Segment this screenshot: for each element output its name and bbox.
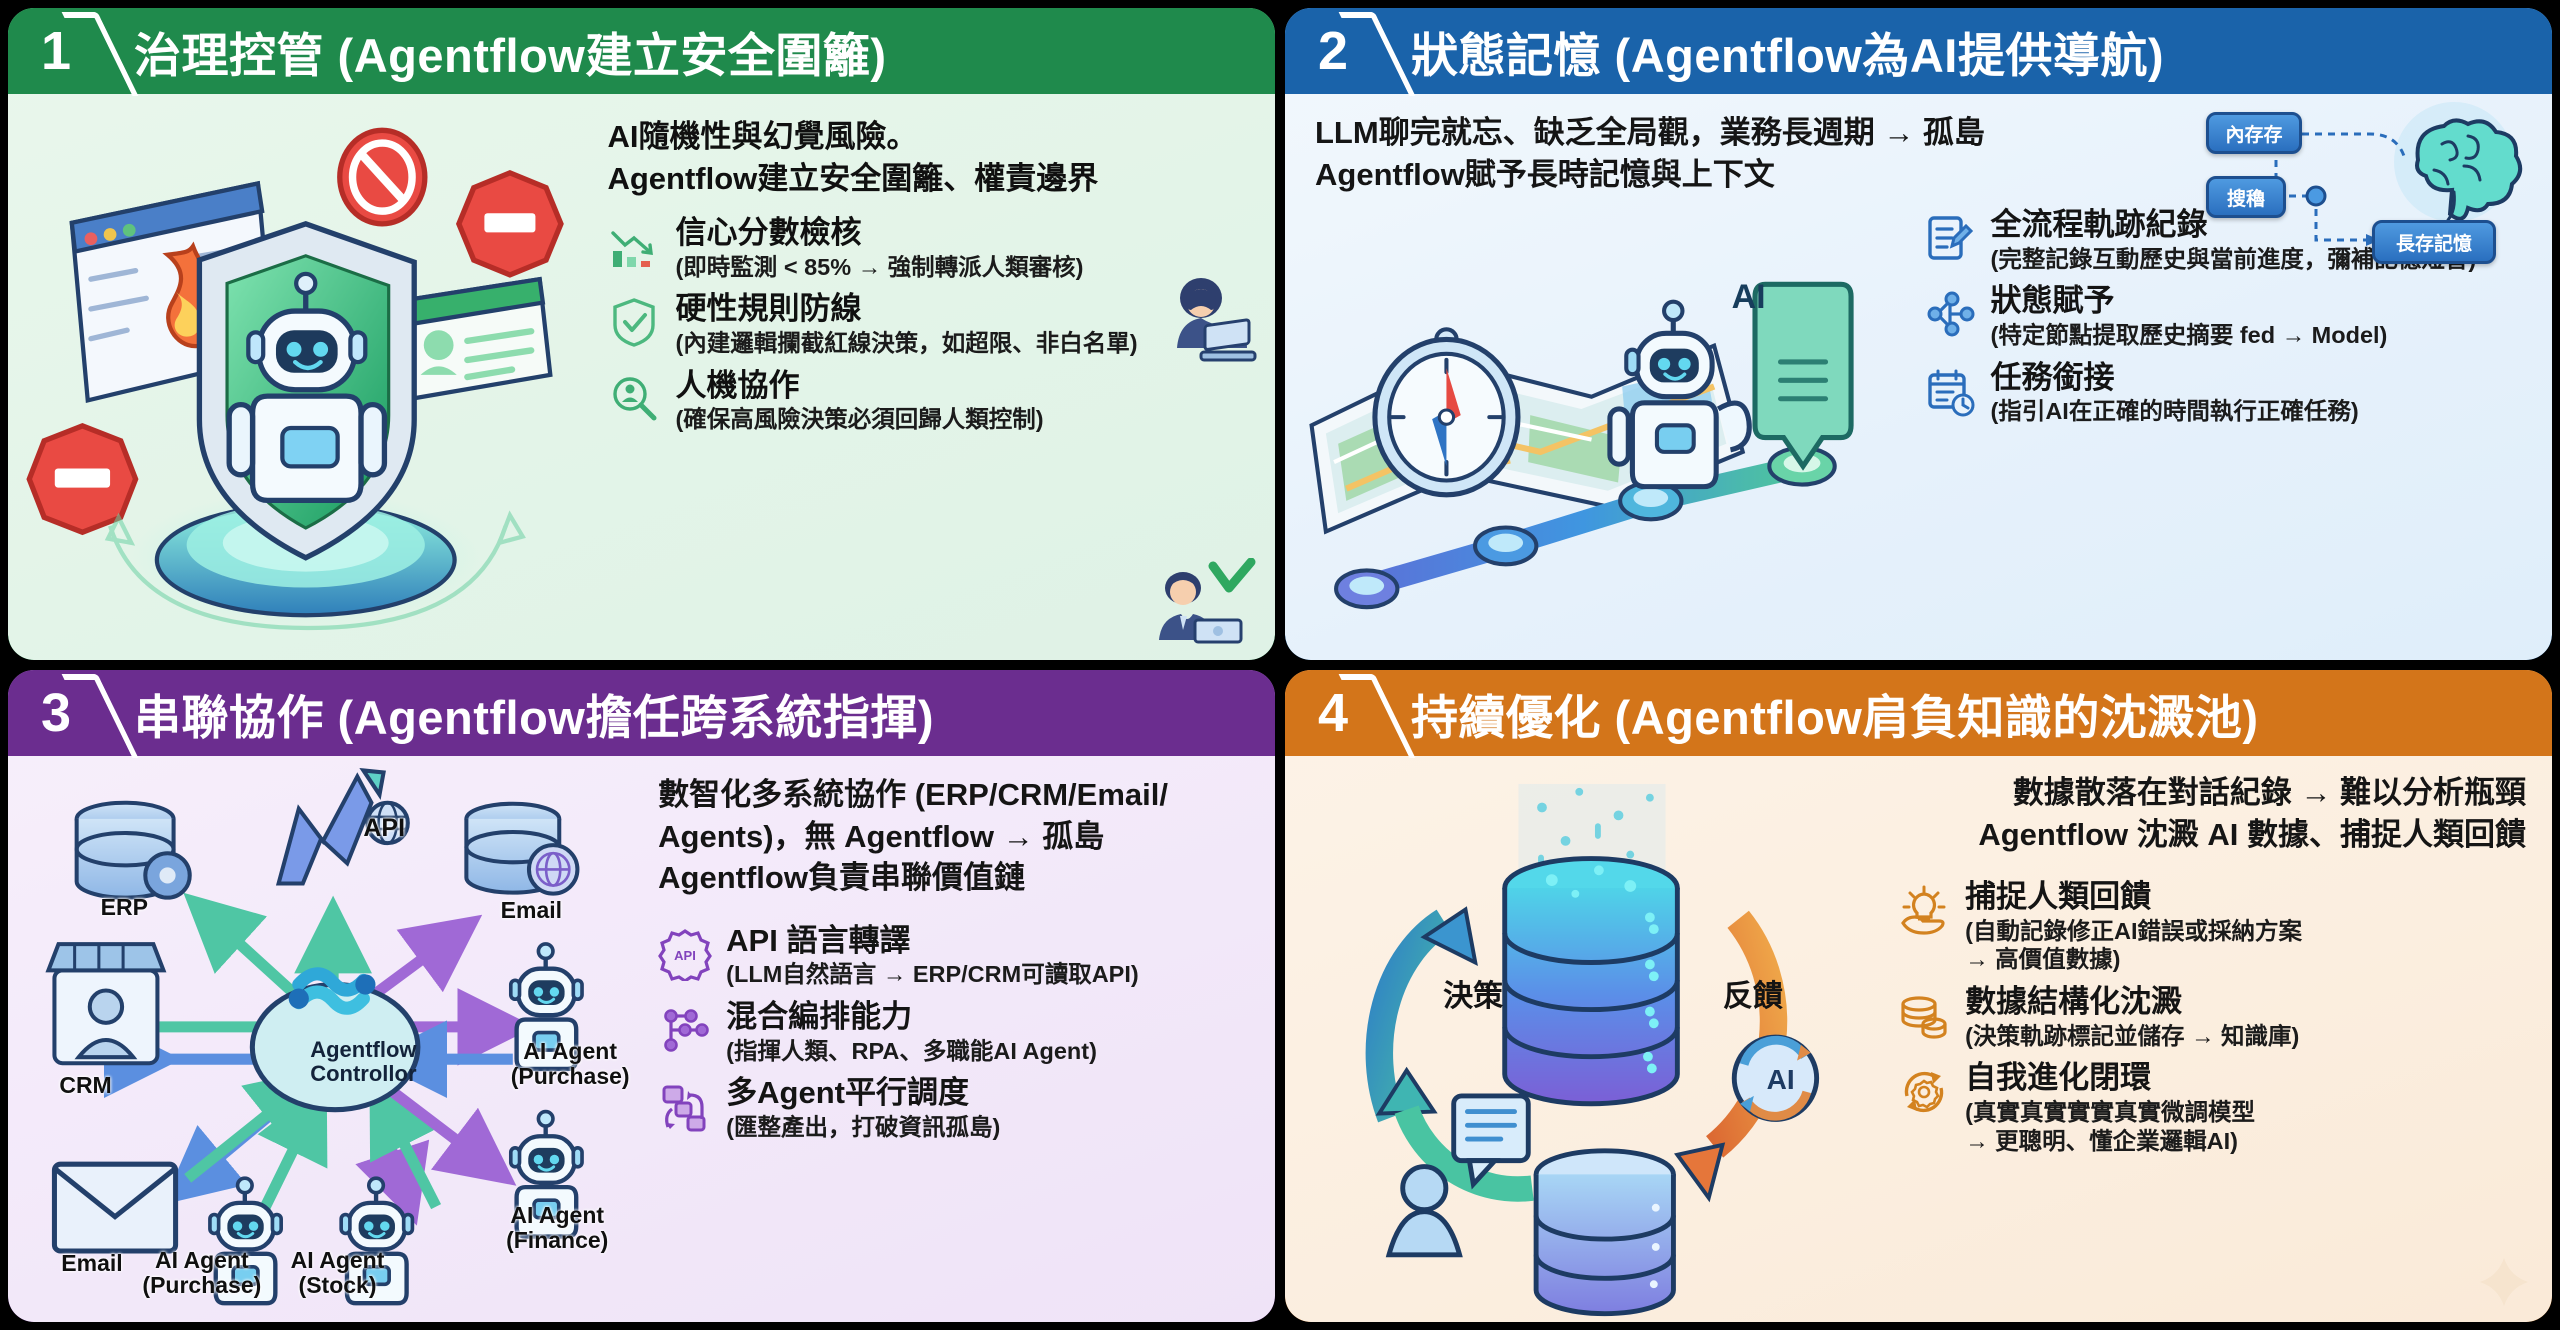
- panel-governance: 1 治理控管 (Agentflow建立安全圍籬): [8, 8, 1275, 660]
- node-label-agent-purchase-right: AI Agent (Purchase): [486, 1039, 654, 1089]
- memory-brain-diagram: 內存存 搜穭 長存記憶: [2206, 100, 2536, 270]
- bullet-title: 自我進化閉環: [1965, 1060, 2151, 1095]
- chevron-right-icon: [80, 8, 122, 94]
- bullet-subtitle: (指揮人類、RPA、多職能AI Agent): [726, 1037, 1249, 1066]
- panel-1-bullets: 信心分數檢核 (即時監測 < 85% → 強制轉派人類審核) 硬性規則防線: [607, 215, 1249, 434]
- panel-1-illustration: [8, 94, 603, 660]
- shield-robot-guardrail-art: [8, 94, 603, 660]
- memory-chip-longterm: 長存記憶: [2372, 220, 2496, 264]
- bullet-title: 信心分數檢核: [675, 215, 861, 250]
- panel-2-header: 2 狀態記憶 (Agentflow為AI提供導航): [1285, 8, 2552, 94]
- panel-3-lead: 數智化多系統協作 (ERP/CRM/Email/ Agents)，無 Agent…: [658, 774, 1249, 899]
- orchestration-nodes-icon: [658, 1003, 712, 1057]
- panel-4-header: 4 持續優化 (Agentflow肩負知識的沈澱池): [1285, 670, 2552, 756]
- panel-4-title: 持續優化 (Agentflow肩負知識的沈澱池): [1411, 679, 2259, 748]
- panel-3-title: 串聯協作 (Agentflow擔任跨系統指揮): [134, 679, 934, 748]
- crm-shop-icon: [48, 944, 163, 1063]
- bullet-subtitle: (自動記錄修正AI錯誤或採納方案 → 高價值數據): [1965, 917, 2526, 974]
- bullet-confidence-score: 信心分數檢核 (即時監測 < 85% → 強制轉派人類審核): [607, 215, 1249, 281]
- bullet-title: 人機協作: [675, 368, 799, 403]
- note-pencil-icon: [1923, 211, 1977, 265]
- bullet-capture-human-feedback: 捕捉人類回饋 (自動記錄修正AI錯誤或採納方案 → 高價值數據): [1897, 879, 2526, 974]
- email-database-icon: [466, 804, 577, 894]
- bullet-title: 多Agent平行調度: [726, 1075, 969, 1110]
- memory-chip-ram: 內存存: [2206, 112, 2302, 154]
- node-label-api: API: [363, 815, 405, 842]
- bullet-self-evolving-loop: 自我進化閉環 (真實真實實實真實微調模型 → 更聰明、懂企業邏輯AI): [1897, 1060, 2526, 1155]
- agentflow-logo-icon: [289, 974, 376, 1009]
- parallel-dispatch-icon: [658, 1079, 712, 1133]
- lightbulb-hand-icon: [1897, 883, 1951, 937]
- bullet-title: 硬性規則防線: [675, 291, 861, 326]
- calendar-clock-icon: [1923, 364, 1977, 418]
- panel-3-illustration: Agentflow Controllor API ERP Email CRM E…: [8, 756, 654, 1322]
- node-label-agent-stock: AI Agent (Stock): [260, 1248, 415, 1298]
- infographic-board: 1 治理控管 (Agentflow建立安全圍籬): [0, 0, 2560, 1330]
- bullet-state-injection: 狀態賦予 (特定節點提取歷史摘要 fed → Model): [1923, 283, 2531, 349]
- bullet-title: 狀態賦予: [1991, 283, 2115, 318]
- bullet-api-translation: API API 語言轉譯 (LLM自然語言 → ERP/CRM可讀取API): [658, 923, 1249, 989]
- panel-2-title: 狀態記憶 (Agentflow為AI提供導航): [1411, 17, 2164, 86]
- bullet-subtitle: (指引AI在正確的時間執行正確任務): [1991, 397, 2531, 426]
- svg-text:API: API: [674, 948, 696, 963]
- bullet-title: 捕捉人類回饋: [1965, 879, 2151, 914]
- ai-location-marker-icon: [1755, 284, 1851, 466]
- panel-2-illustration: AI: [1285, 205, 1919, 660]
- hub-label: Agentflow Controllor: [273, 1038, 454, 1086]
- chevron-right-icon: [1357, 8, 1399, 94]
- main-database-icon: [1505, 859, 1678, 1104]
- bullet-hybrid-orchestration: 混合編排能力 (指揮人類、RPA、多職能AI Agent): [658, 999, 1249, 1065]
- no-entry-icon-top: [340, 130, 425, 224]
- email-envelope-icon: [54, 1164, 175, 1251]
- magnifier-person-icon: [607, 372, 661, 426]
- chevron-right-icon: [1357, 670, 1399, 756]
- manager-man-laptop-check-icon: [1147, 558, 1257, 650]
- panel-state-memory: 2 狀態記憶 (Agentflow為AI提供導航) LLM聊完就忘、缺乏全局觀，…: [1285, 8, 2552, 660]
- knowledge-base-database-icon: [1536, 1151, 1673, 1314]
- bullet-human-in-loop: 人機協作 (確保高風險決策必須回歸人類控制): [607, 368, 1249, 434]
- panel-orchestration: 3 串聯協作 (Agentflow擔任跨系統指揮): [8, 670, 1275, 1322]
- compass-map-roadmap-art: [1285, 205, 1919, 660]
- data-sediment-cycle-art: [1285, 756, 1893, 1322]
- bullet-task-handoff: 任務銜接 (指引AI在正確的時間執行正確任務): [1923, 360, 2531, 426]
- bullet-subtitle: (決策軌跡標記並儲存 → 知識庫): [1965, 1022, 2526, 1051]
- bullet-subtitle: (真實真實實實真實微調模型 → 更聰明、懂企業邏輯AI): [1965, 1098, 2526, 1155]
- bullet-title: 全流程軌跡紀錄: [1991, 207, 2208, 242]
- bullet-subtitle: (LLM自然語言 → ERP/CRM可讀取API): [726, 960, 1249, 989]
- ai-badge-label: AI: [1767, 1064, 1795, 1096]
- bullet-title: 數據結構化沈澱: [1965, 984, 2182, 1019]
- id-card-icon: [404, 279, 551, 398]
- cycle-gear-icon: [1897, 1064, 1951, 1118]
- cycle-label-decision: 決策: [1443, 971, 1503, 1015]
- panel-4-illustration: 決策 反饋 AI: [1285, 756, 1893, 1322]
- share-nodes-icon: [1923, 287, 1977, 341]
- panel-1-lead: AI隨機性與幻覺風險。 Agentflow建立安全圍籬、權責邊界: [607, 116, 1249, 199]
- bullet-subtitle: (匯整產出，打破資訊孤島): [726, 1113, 1249, 1142]
- api-gear-icon: API: [658, 927, 712, 981]
- node-label-agent-finance: AI Agent (Finance): [473, 1203, 641, 1253]
- node-label-crm: CRM: [21, 1073, 150, 1098]
- panel-1-header: 1 治理控管 (Agentflow建立安全圍籬): [8, 8, 1275, 94]
- node-label-email-top: Email: [460, 898, 602, 923]
- panel-1-title: 治理控管 (Agentflow建立安全圍籬): [134, 17, 887, 86]
- erp-database-icon: [77, 803, 190, 898]
- coins-stack-icon: [1897, 988, 1951, 1042]
- shield-check-icon: [607, 295, 661, 349]
- bullet-subtitle: (確保高風險決策必須回歸人類控制): [675, 405, 1249, 434]
- bullet-subtitle: (特定節點提取歷史摘要 fed → Model): [1991, 321, 2531, 350]
- bullet-parallel-dispatch: 多Agent平行調度 (匯整產出，打破資訊孤島): [658, 1075, 1249, 1141]
- compass-icon: [1375, 329, 1518, 495]
- bullet-structured-sediment: 數據結構化沈澱 (決策軌跡標記並儲存 → 知識庫): [1897, 984, 2526, 1050]
- ai-marker-label: AI: [1732, 278, 1766, 317]
- bullet-title: 任務銜接: [1991, 360, 2115, 395]
- bullet-hard-rules: 硬性規則防線 (內建邏輯攔截紅線決策，如超限、非白名單): [607, 291, 1249, 357]
- panel-4-lead: 數據散落在對話紀錄 → 難以分析瓶頸 Agentflow 沈澱 AI 數據、捕捉…: [1897, 772, 2526, 855]
- memory-chip-search: 搜穭: [2206, 176, 2286, 218]
- bullet-title: API 語言轉譯: [726, 923, 910, 958]
- cycle-label-feedback: 反饋: [1723, 971, 1783, 1015]
- panel-4-bullets: 捕捉人類回饋 (自動記錄修正AI錯誤或採納方案 → 高價值數據): [1897, 879, 2526, 1155]
- bullet-title: 混合編排能力: [726, 999, 912, 1034]
- no-entry-icon-right: [459, 173, 561, 275]
- panel-continuous-optimization: 4 持續優化 (Agentflow肩負知識的沈澱池): [1285, 670, 2552, 1322]
- analyst-woman-laptop-icon: [1161, 276, 1257, 368]
- panel-3-bullets: API API 語言轉譯 (LLM自然語言 → ERP/CRM可讀取API): [658, 923, 1249, 1142]
- node-label-erp: ERP: [66, 895, 182, 920]
- chart-down-icon: [607, 219, 661, 273]
- chevron-right-icon: [80, 670, 122, 756]
- panel-3-header: 3 串聯協作 (Agentflow擔任跨系統指揮): [8, 670, 1275, 756]
